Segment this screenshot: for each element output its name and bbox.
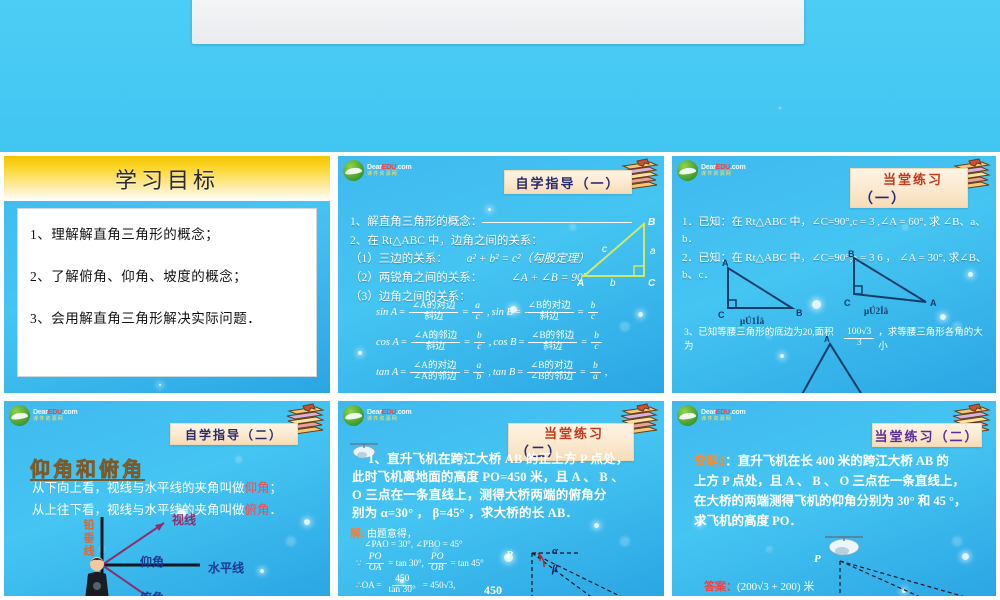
variant-text-line-1: 变题1：直升飞机在长 400 米的跨江大桥 AB 的 — [694, 453, 988, 470]
highlight-elevation: 仰角 — [245, 481, 270, 495]
slide-3-class-exercise-1[interactable]: DearEDU.com 课件资源网 当堂练习 （一） 1 — [668, 152, 1000, 397]
slide-4-self-study-guide-2[interactable]: DearEDU.com 课件资源网 自学指导（二） 仰角和俯角 — [0, 397, 334, 600]
helicopter-icon — [822, 531, 866, 559]
goal-item-2: 2、了解俯角、仰角、坡度的概念； — [30, 265, 304, 285]
trig-row-cos: cos A= ∠A的邻边斜边 = bc , cos B= ∠B的邻边斜边 = b… — [376, 332, 658, 353]
exercise-2-text-line-2: 此时飞机离地面的高度 PO=450 米，且 A 、 B 、 — [352, 469, 660, 485]
logo-disc-icon — [343, 160, 364, 181]
slide-4-paragraph-1: 从下向上看，视线与水平线的夹角叫做仰角； — [32, 477, 324, 496]
sin-B-label: sin B — [492, 307, 513, 318]
tan-A-label: tan A — [376, 367, 398, 378]
solution-line-2: ∵ POOA = tan 30°, POOB = tan 45° — [356, 553, 484, 574]
exercise-2-text-line-1: 1、直升飞机在跨江大桥 AB 的正上方 P 点处， — [368, 451, 660, 467]
slide-3-badge-line2: （一） — [859, 188, 907, 208]
solution-line-1: ∠PAO = 30°, ∠PBO = 45° — [364, 539, 463, 550]
trig-row-tan: tan A= ∠A的对边∠A的邻边 = ab , tan B= ∠B的对边∠B的… — [376, 362, 658, 383]
tri-label-C: C — [648, 278, 656, 289]
exercise-2-text-line-4: 别为 α=30° ， β=45° ，求大桥的长 AB． — [352, 505, 660, 521]
fig2-label-C: C — [844, 298, 851, 308]
learning-goals-box: 1、理解解直角三角形的概念； 2、了解俯角、仰角、坡度的概念； 3、会用解直角三… — [17, 208, 317, 377]
tan-B-label: tan B — [493, 367, 515, 378]
answer-unit: 米 — [803, 581, 814, 593]
top-thumbnail-card[interactable] — [192, 0, 804, 44]
variant-text-line-2: 上方 P 点处，且 A 、 B 、 O 三点在一条直线上， — [694, 473, 988, 490]
variant-label: 变题 — [694, 454, 719, 468]
label-sight-line: 视线 — [172, 511, 196, 528]
exercise-figure-3: A B C — [790, 342, 882, 397]
label-angle-of-elevation: 仰角 — [140, 553, 164, 570]
diagram-label-beta: β — [552, 563, 558, 575]
goal-item-3: 3、会用解直角三角形解决实际问题． — [30, 307, 304, 327]
slide-1-title-band: 学习目标 — [4, 156, 330, 201]
tri-label-B: B — [648, 217, 655, 228]
slide-4-badge: 自学指导（二） — [170, 423, 298, 445]
brand-logo: DearEDU.com 课件资源网 — [677, 405, 763, 426]
exercise-figure-2: B C A — [842, 252, 942, 310]
brand-logo: DearEDU.com 课件资源网 — [9, 405, 95, 426]
fig1-label-A: A — [722, 258, 729, 268]
bridge-angle-diagram — [514, 541, 668, 600]
page-title: 学习目标 — [115, 163, 219, 195]
slide-overview-canvas: 学习目标 1、理解解直角三角形的概念； 2、了解俯角、仰角、坡度的概念； 3、会… — [0, 0, 1000, 600]
slide-3-badge-line1: 当堂练习 — [883, 169, 943, 188]
slide-2-self-study-guide-1[interactable]: DearEDU.com 课件资源网 自学指导（一） 1、解直角三角形的概 — [334, 152, 668, 397]
solution-label: 解: — [350, 528, 365, 540]
slide-6-badge: 当堂练习（二） — [872, 423, 982, 447]
s2-line-3: （1）三边的关系： — [350, 253, 448, 265]
brand-logo: DearEDU.com 课件资源网 — [677, 160, 763, 181]
slide-5-class-exercise-2[interactable]: DearEDU.com 课件资源网 当堂练习 （二） — [334, 397, 668, 600]
variant-angle-diagram — [818, 557, 998, 600]
label-angle-of-depression: 俯角 — [140, 589, 164, 600]
slide-2-badge: 自学指导（一） — [504, 170, 632, 194]
variant-text-line-4: 求飞机的高度 PO． — [694, 513, 988, 530]
brand-logo: DearEDU.com 课件资源网 — [343, 160, 429, 181]
annotation-unit: 米 — [490, 595, 501, 600]
sin-A-label: sin A — [376, 307, 397, 318]
exercise-2-text-line-3: O 三点在一条直线上，测得大桥两端的俯角分 — [352, 487, 660, 503]
slide-grid: 学习目标 1、理解解直角三角形的概念； 2、了解俯角、仰角、坡度的概念； 3、会… — [0, 152, 1000, 600]
slide-3-badge: 当堂练习 （一） — [850, 168, 968, 208]
slide-5-badge-line1: 当堂练习 — [544, 423, 604, 442]
exercise-figure-1: A C B — [718, 260, 808, 318]
logo-disc-icon — [9, 405, 30, 426]
label-horizontal-line: 水平线 — [208, 559, 244, 576]
fig1-label-C: C — [718, 310, 725, 320]
s2-line-4: （2）两锐角之间的关系： — [350, 272, 482, 284]
answer-line: 答案：(200√3 + 200) 米 — [704, 578, 814, 594]
tri-label-A: A — [576, 278, 584, 289]
fig1-label-B: B — [796, 308, 803, 318]
solution-line-3: ∴OA = 450tan 30° = 450√3, — [356, 575, 455, 596]
right-triangle-diagram: A B C a b c — [576, 218, 664, 286]
slide-1-learning-goals[interactable]: 学习目标 1、理解解直角三角形的概念； 2、了解俯角、仰角、坡度的概念； 3、会… — [0, 152, 334, 397]
exercise-figure-2-caption: μÚ2Íâ — [864, 306, 888, 316]
logo-disc-icon — [677, 160, 698, 181]
answer-label: 答案： — [704, 581, 737, 593]
logo-disc-icon — [343, 405, 364, 426]
top-partial-thumbnail[interactable] — [0, 0, 1000, 48]
answer-value: (200√3 + 200) — [737, 581, 801, 593]
tri-label-a: a — [650, 246, 656, 257]
logo-disc-icon — [677, 405, 698, 426]
goal-item-1: 1、理解解直角三角形的概念； — [30, 223, 304, 243]
slide-6-class-exercise-2-variant[interactable]: DearEDU.com 课件资源网 当堂练习（二） 变题1：直升飞机在长 — [668, 397, 1000, 600]
diagram-label-alpha: α — [552, 545, 558, 557]
trig-formula-block: sin A= ∠A的对边斜边 = ac , sin B= ∠B的对边斜边 = b… — [376, 302, 658, 392]
slide-6-badge-label: 当堂练习（二） — [874, 426, 979, 445]
fig3-label-A: A — [824, 335, 830, 344]
slide-2-badge-label: 自学指导（一） — [515, 173, 620, 192]
fig2-label-A: A — [930, 298, 937, 308]
tri-label-c: c — [602, 244, 607, 255]
fig2-label-B: B — [848, 249, 855, 259]
cos-B-label: cos B — [493, 337, 516, 348]
observer-person-figure — [80, 556, 114, 600]
trig-row-sin: sin A= ∠A的对边斜边 = ac , sin B= ∠B的对边斜边 = b… — [376, 302, 658, 323]
exercise-question-1: 1．已知：在 Rt△ABC 中，∠C=90°,c = 3 ,∠A = 60°, … — [682, 214, 990, 247]
variant-text-line-3: 在大桥的两端测得飞机的仰角分别为 30° 和 45 °， — [694, 493, 988, 510]
s2-formula-pythagoras: a² + b² = c²（勾股定理） — [467, 253, 590, 265]
slide-4-badge-label: 自学指导（二） — [185, 426, 283, 443]
diagram-label-P: P — [506, 549, 513, 561]
diagram-label-P: P — [814, 553, 821, 565]
tri-label-b: b — [610, 278, 616, 289]
cos-A-label: cos A — [376, 337, 399, 348]
s2-line-1: 1、解直角三角形的概念： — [350, 216, 482, 228]
q3-text-after: ，求等腰三角形各角的大小 — [878, 324, 990, 352]
brand-logo: DearEDU.com 课件资源网 — [343, 405, 429, 426]
label-plumb-line: 铅垂线 — [80, 519, 96, 558]
